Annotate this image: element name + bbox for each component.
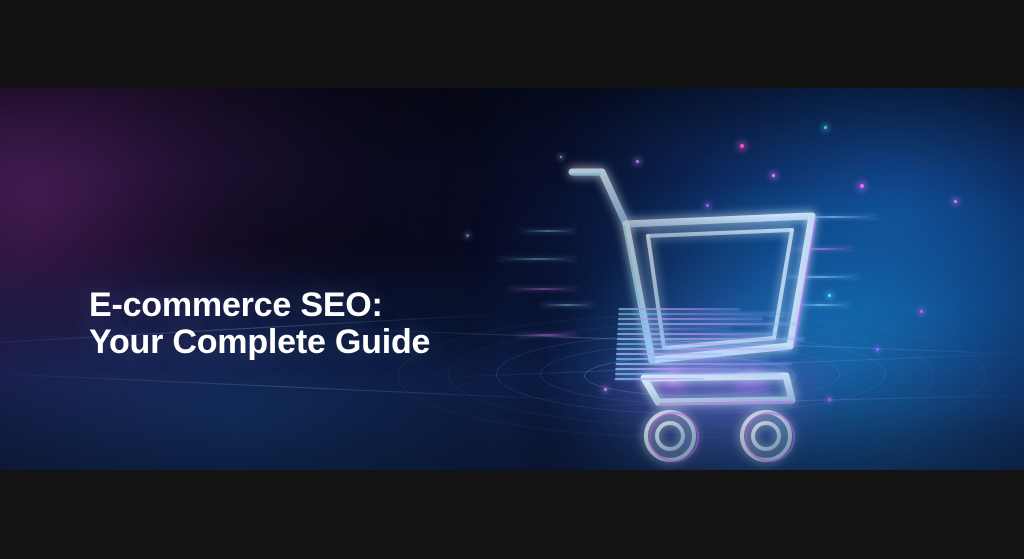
vignette-overlay: [0, 88, 1024, 470]
footer-logo-bar: WEBSITE LOGO: [0, 470, 1024, 559]
banner-page: E-commerce SEO: Your Complete Guide WEBS…: [0, 0, 1024, 559]
banner-title-line-1: E-commerce SEO:: [89, 286, 383, 324]
hero-banner: E-commerce SEO: Your Complete Guide: [0, 88, 1024, 470]
banner-title: E-commerce SEO: Your Complete Guide: [89, 287, 430, 361]
banner-title-line-2: Your Complete Guide: [89, 323, 430, 361]
letterbox-top: [0, 0, 1024, 88]
